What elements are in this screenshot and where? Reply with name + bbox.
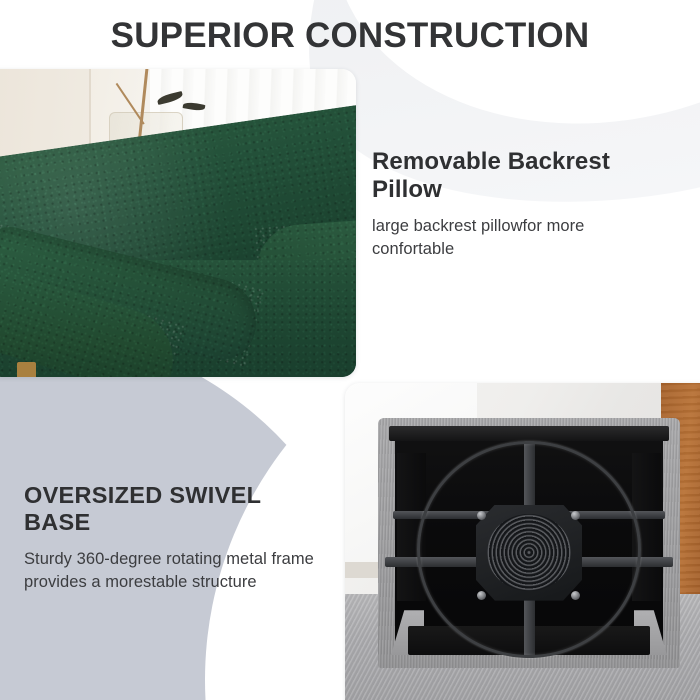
page-title: SUPERIOR CONSTRUCTION xyxy=(0,16,700,56)
swivel-spring-coil xyxy=(487,514,572,591)
photo-oversized-swivel-base xyxy=(345,383,700,700)
chair-wood-leg xyxy=(17,362,35,377)
feature-body-swivel: Sturdy 360-degree rotating metal frame p… xyxy=(24,548,324,596)
feature-title-pillow: Removable Backrest Pillow xyxy=(372,148,662,204)
infographic-canvas: SUPERIOR CONSTRUCTION xyxy=(0,0,700,700)
photo-pillow-scene xyxy=(0,69,356,377)
feature-title-swivel: OVERSIZED SWIVEL BASE xyxy=(24,482,324,537)
feature-body-pillow: large backrest pillowfor more confortabl… xyxy=(372,215,662,263)
feature-block-oversized-swivel-base: OVERSIZED SWIVEL BASE Sturdy 360-degree … xyxy=(24,482,324,595)
photo-removable-backrest-pillow xyxy=(0,69,356,377)
frame-top-rail xyxy=(389,426,669,440)
photo-swivel-scene xyxy=(345,383,700,700)
feature-block-removable-backrest-pillow: Removable Backrest Pillow large backrest… xyxy=(372,148,662,262)
